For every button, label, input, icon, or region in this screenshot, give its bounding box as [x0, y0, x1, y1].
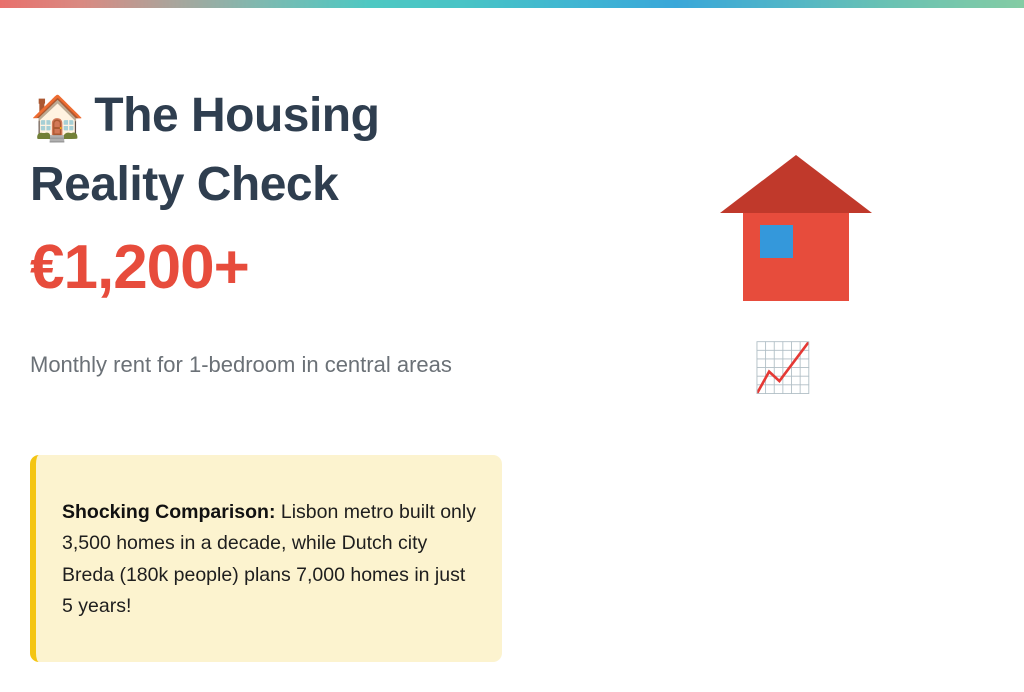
callout-text: Shocking Comparison: Lisbon metro built … [62, 497, 476, 623]
page-title-line-1: The Housing [94, 89, 379, 142]
right-illustration-column: 📈 [560, 8, 1024, 692]
callout-lead-label: Shocking Comparison: [62, 501, 275, 523]
stat-value: €1,200+ [30, 237, 249, 299]
house-body-shape [743, 213, 849, 301]
page-title-line-2: Reality Check [30, 158, 338, 211]
top-gradient-bar [0, 0, 1024, 8]
house-roof-shape [720, 155, 872, 213]
house-graphic [720, 155, 872, 301]
chart-increasing-icon: 📈 [753, 345, 813, 393]
callout-box: Shocking Comparison: Lisbon metro built … [30, 455, 502, 662]
page-content: 🏠The HousingReality Check €1,200+ Monthl… [0, 8, 1024, 692]
stat-description: Monthly rent for 1-bedroom in central ar… [30, 345, 478, 386]
house-window-shape [760, 225, 793, 258]
page-title: 🏠The HousingReality Check [30, 82, 510, 219]
house-icon: 🏠 [30, 94, 84, 143]
